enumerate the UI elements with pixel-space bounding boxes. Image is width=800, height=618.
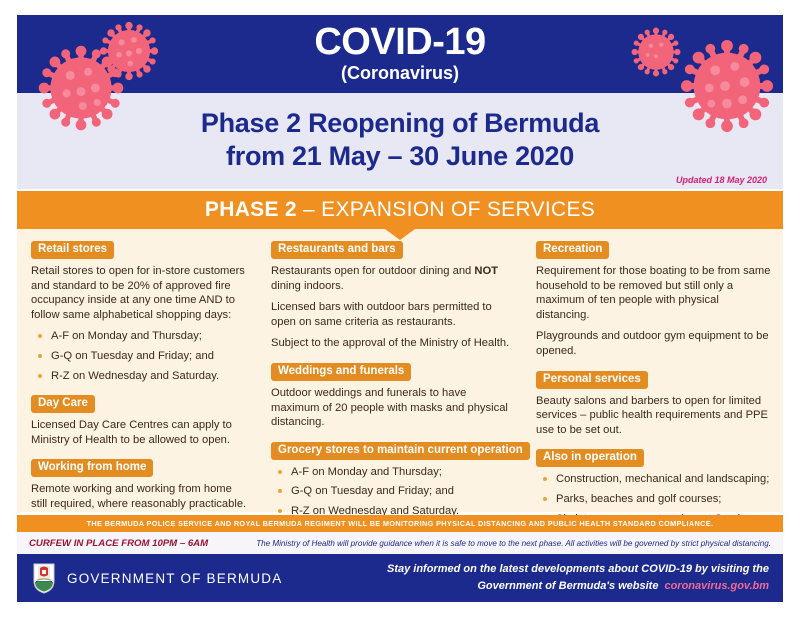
section-heading-retail-stores: Retail stores [31,241,114,259]
section-heading-also-in-operation: Also in operation [536,449,644,467]
section-day-care: Day CareLicensed Day Care Centres can ap… [31,393,251,447]
section-paragraph: Licensed bars with outdoor bars permitte… [271,300,516,329]
list-item: Construction, mechanical and landscaping… [536,472,771,487]
section-paragraph: Requirement for those boating to be from… [536,264,771,322]
section-paragraph: Licensed Day Care Centres can apply to M… [31,418,251,447]
section-working-from-home: Working from homeRemote working and work… [31,457,251,511]
list-item: A-F on Monday and Thursday; [31,329,251,344]
section-heading-grocery-stores: Grocery stores to maintain current opera… [271,442,530,460]
section-personal-services: Personal servicesBeauty salons and barbe… [536,369,771,438]
section-paragraph: Beauty salons and barbers to open for li… [536,394,771,438]
list-item: A-F on Monday and Thursday; [271,465,516,480]
section-heading-day-care: Day Care [31,395,95,413]
section-paragraph: Outdoor weddings and funerals to have ma… [271,386,516,430]
page-subtitle: (Coronavirus) [17,63,783,84]
coronavirus-website-link[interactable]: coronavirus.gov.bm [664,580,769,592]
section-heading-working-from-home: Working from home [31,459,153,477]
curfew-notice: CURFEW IN PLACE FROM 10PM – 6AM [29,538,208,549]
section-paragraph: Remote working and working from home sti… [31,482,251,511]
stay-informed-line-2-row: Government of Bermuda's websitecoronavir… [387,577,769,594]
stay-informed-line-2: Government of Bermuda's website [477,580,658,592]
stay-informed-line-1: Stay informed on the latest developments… [387,562,769,577]
curfew-row: CURFEW IN PLACE FROM 10PM – 6AM The Mini… [17,532,783,554]
government-label: GOVERNMENT OF BERMUDA [67,571,282,586]
section-grocery-stores: Grocery stores to maintain current opera… [271,440,516,519]
column-left: Retail storesRetail stores to open for i… [17,239,261,512]
section-heading-weddings-and-funerals: Weddings and funerals [271,363,411,381]
section-paragraph: Playgrounds and outdoor gym equipment to… [536,329,771,358]
section-recreation: RecreationRequirement for those boating … [536,239,771,359]
section-paragraph: Subject to the approval of the Ministry … [271,336,516,351]
covid19-phase2-poster: COVID-19 (Coronavirus) Phase 2 Reopening… [0,0,800,618]
bermuda-coat-of-arms-icon [31,562,57,594]
section-paragraph: Restaurants open for outdoor dining and … [271,264,516,293]
column-right: RecreationRequirement for those boating … [526,239,783,512]
section-paragraph: Retail stores to open for in-store custo… [31,264,251,322]
list-item: G-Q on Tuesday and Friday; and [271,484,516,499]
section-heading-personal-services: Personal services [536,371,648,389]
phase-title-line-2: from 21 May – 30 June 2020 [17,141,783,172]
section-heading-restaurants-and-bars: Restaurants and bars [271,241,403,259]
phase-title-line-1: Phase 2 Reopening of Bermuda [17,108,783,139]
header-banner: COVID-19 (Coronavirus) [17,15,783,93]
phase-banner-rest: – EXPANSION OF SERVICES [297,198,595,221]
list-item: R-Z on Wednesday and Saturday. [31,369,251,384]
police-compliance-strip: THE BERMUDA POLICE SERVICE AND ROYAL BER… [17,515,783,532]
section-bullet-list: A-F on Monday and Thursday;G-Q on Tuesda… [271,465,516,519]
police-compliance-text: THE BERMUDA POLICE SERVICE AND ROYAL BER… [87,519,714,528]
phase-expansion-banner: PHASE 2 – EXPANSION OF SERVICES [17,191,783,229]
ministry-guidance-note: The Ministry of Health will provide guid… [256,539,771,548]
phase-banner-label: PHASE 2 – EXPANSION OF SERVICES [205,198,595,222]
column-middle: Restaurants and barsRestaurants open for… [261,239,526,512]
footer-bar: GOVERNMENT OF BERMUDA Stay informed on t… [17,554,783,602]
main-content: Retail storesRetail stores to open for i… [17,229,783,512]
banner-notch-triangle [385,229,415,240]
phase-banner-bold: PHASE 2 [205,198,297,221]
section-heading-recreation: Recreation [536,241,609,259]
page-title: COVID-19 [17,21,783,63]
updated-date: Updated 18 May 2020 [676,175,767,185]
section-retail-stores: Retail storesRetail stores to open for i… [31,239,251,383]
section-weddings-and-funerals: Weddings and funeralsOutdoor weddings an… [271,361,516,430]
phase-title-band: Phase 2 Reopening of Bermuda from 21 May… [17,93,783,189]
government-brand: GOVERNMENT OF BERMUDA [31,562,282,594]
list-item: G-Q on Tuesday and Friday; and [31,349,251,364]
list-item: Parks, beaches and golf courses; [536,492,771,507]
section-bullet-list: A-F on Monday and Thursday;G-Q on Tuesda… [31,329,251,383]
stay-informed-block: Stay informed on the latest developments… [387,562,769,594]
section-restaurants-and-bars: Restaurants and barsRestaurants open for… [271,239,516,351]
